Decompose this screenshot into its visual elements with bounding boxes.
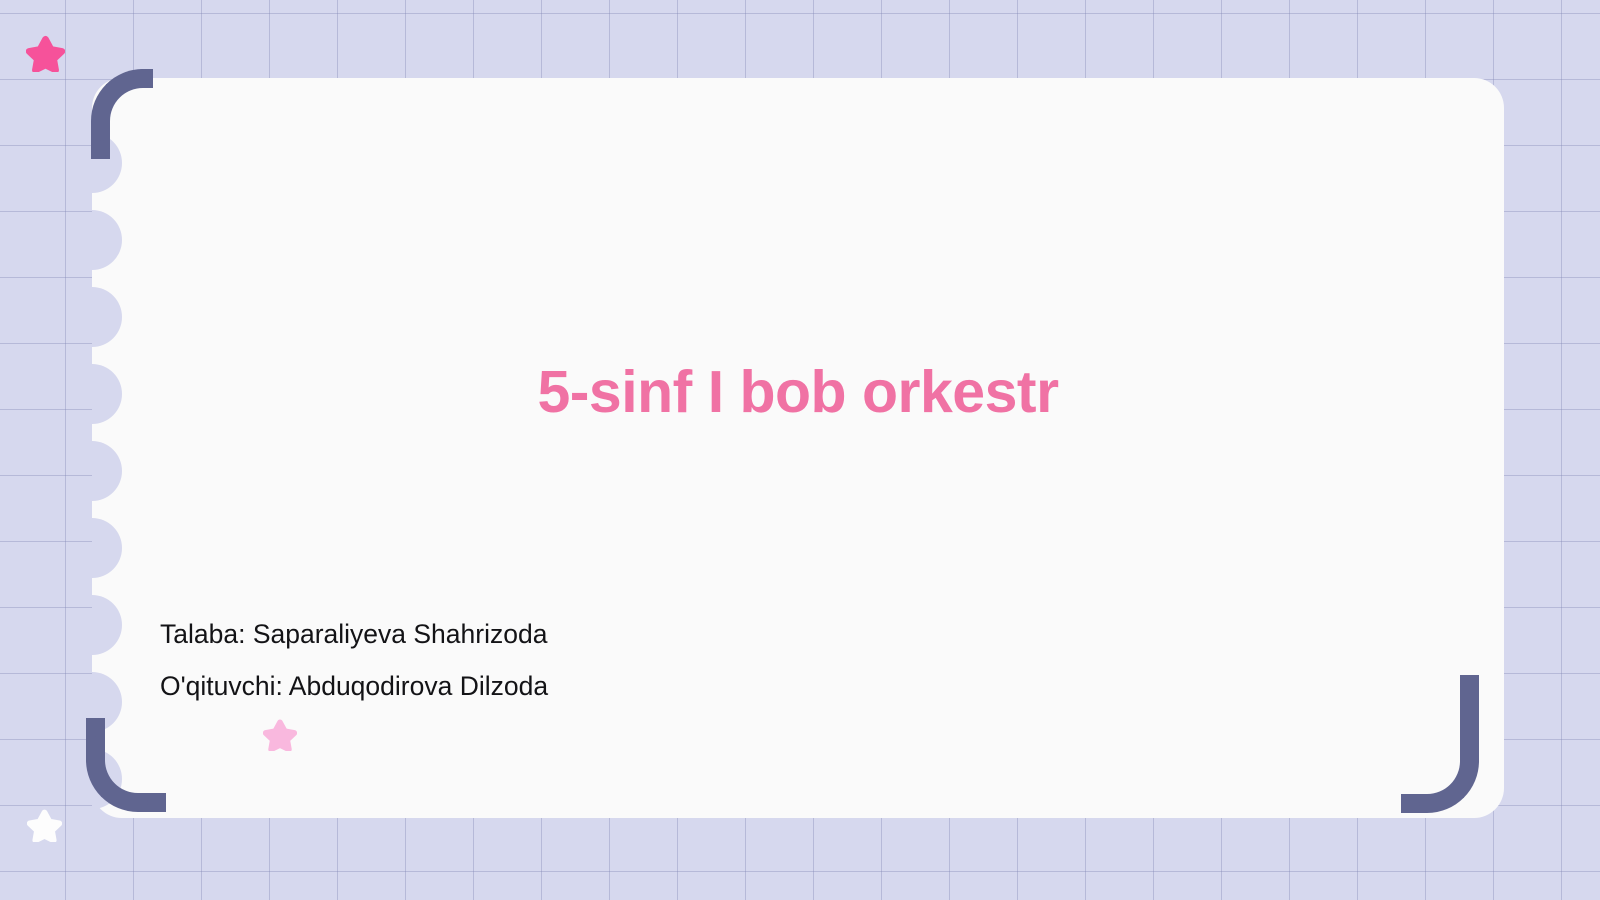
- star-icon: [26, 33, 65, 72]
- star-icon: [27, 807, 62, 842]
- slide-canvas: 5-sinf I bob orkestr Talaba: Saparaliyev…: [0, 0, 1600, 900]
- scallop-notch: [92, 287, 122, 347]
- scallop-notch: [92, 210, 122, 270]
- bracket-cap: [91, 140, 110, 159]
- scalloped-card-edge: [92, 78, 123, 818]
- credit-student: Talaba: Saparaliyeva Shahrizoda: [160, 608, 548, 660]
- scallop-notch: [92, 441, 122, 501]
- corner-bracket-bottom-right-icon: [1401, 675, 1479, 813]
- slide-credits: Talaba: Saparaliyeva Shahrizoda O'qituvc…: [160, 608, 548, 712]
- page-title: 5-sinf I bob orkestr: [92, 358, 1504, 426]
- credit-teacher: O'qituvchi: Abduqodirova Dilzoda: [160, 660, 548, 712]
- bracket-cap: [1401, 794, 1420, 813]
- scallop-notch: [92, 595, 122, 655]
- bracket-cap: [1460, 675, 1479, 694]
- bracket-cap: [147, 793, 166, 812]
- bracket-cap: [86, 718, 105, 737]
- scallop-notch: [92, 518, 122, 578]
- star-icon: [263, 717, 297, 751]
- bracket-cap: [133, 69, 152, 88]
